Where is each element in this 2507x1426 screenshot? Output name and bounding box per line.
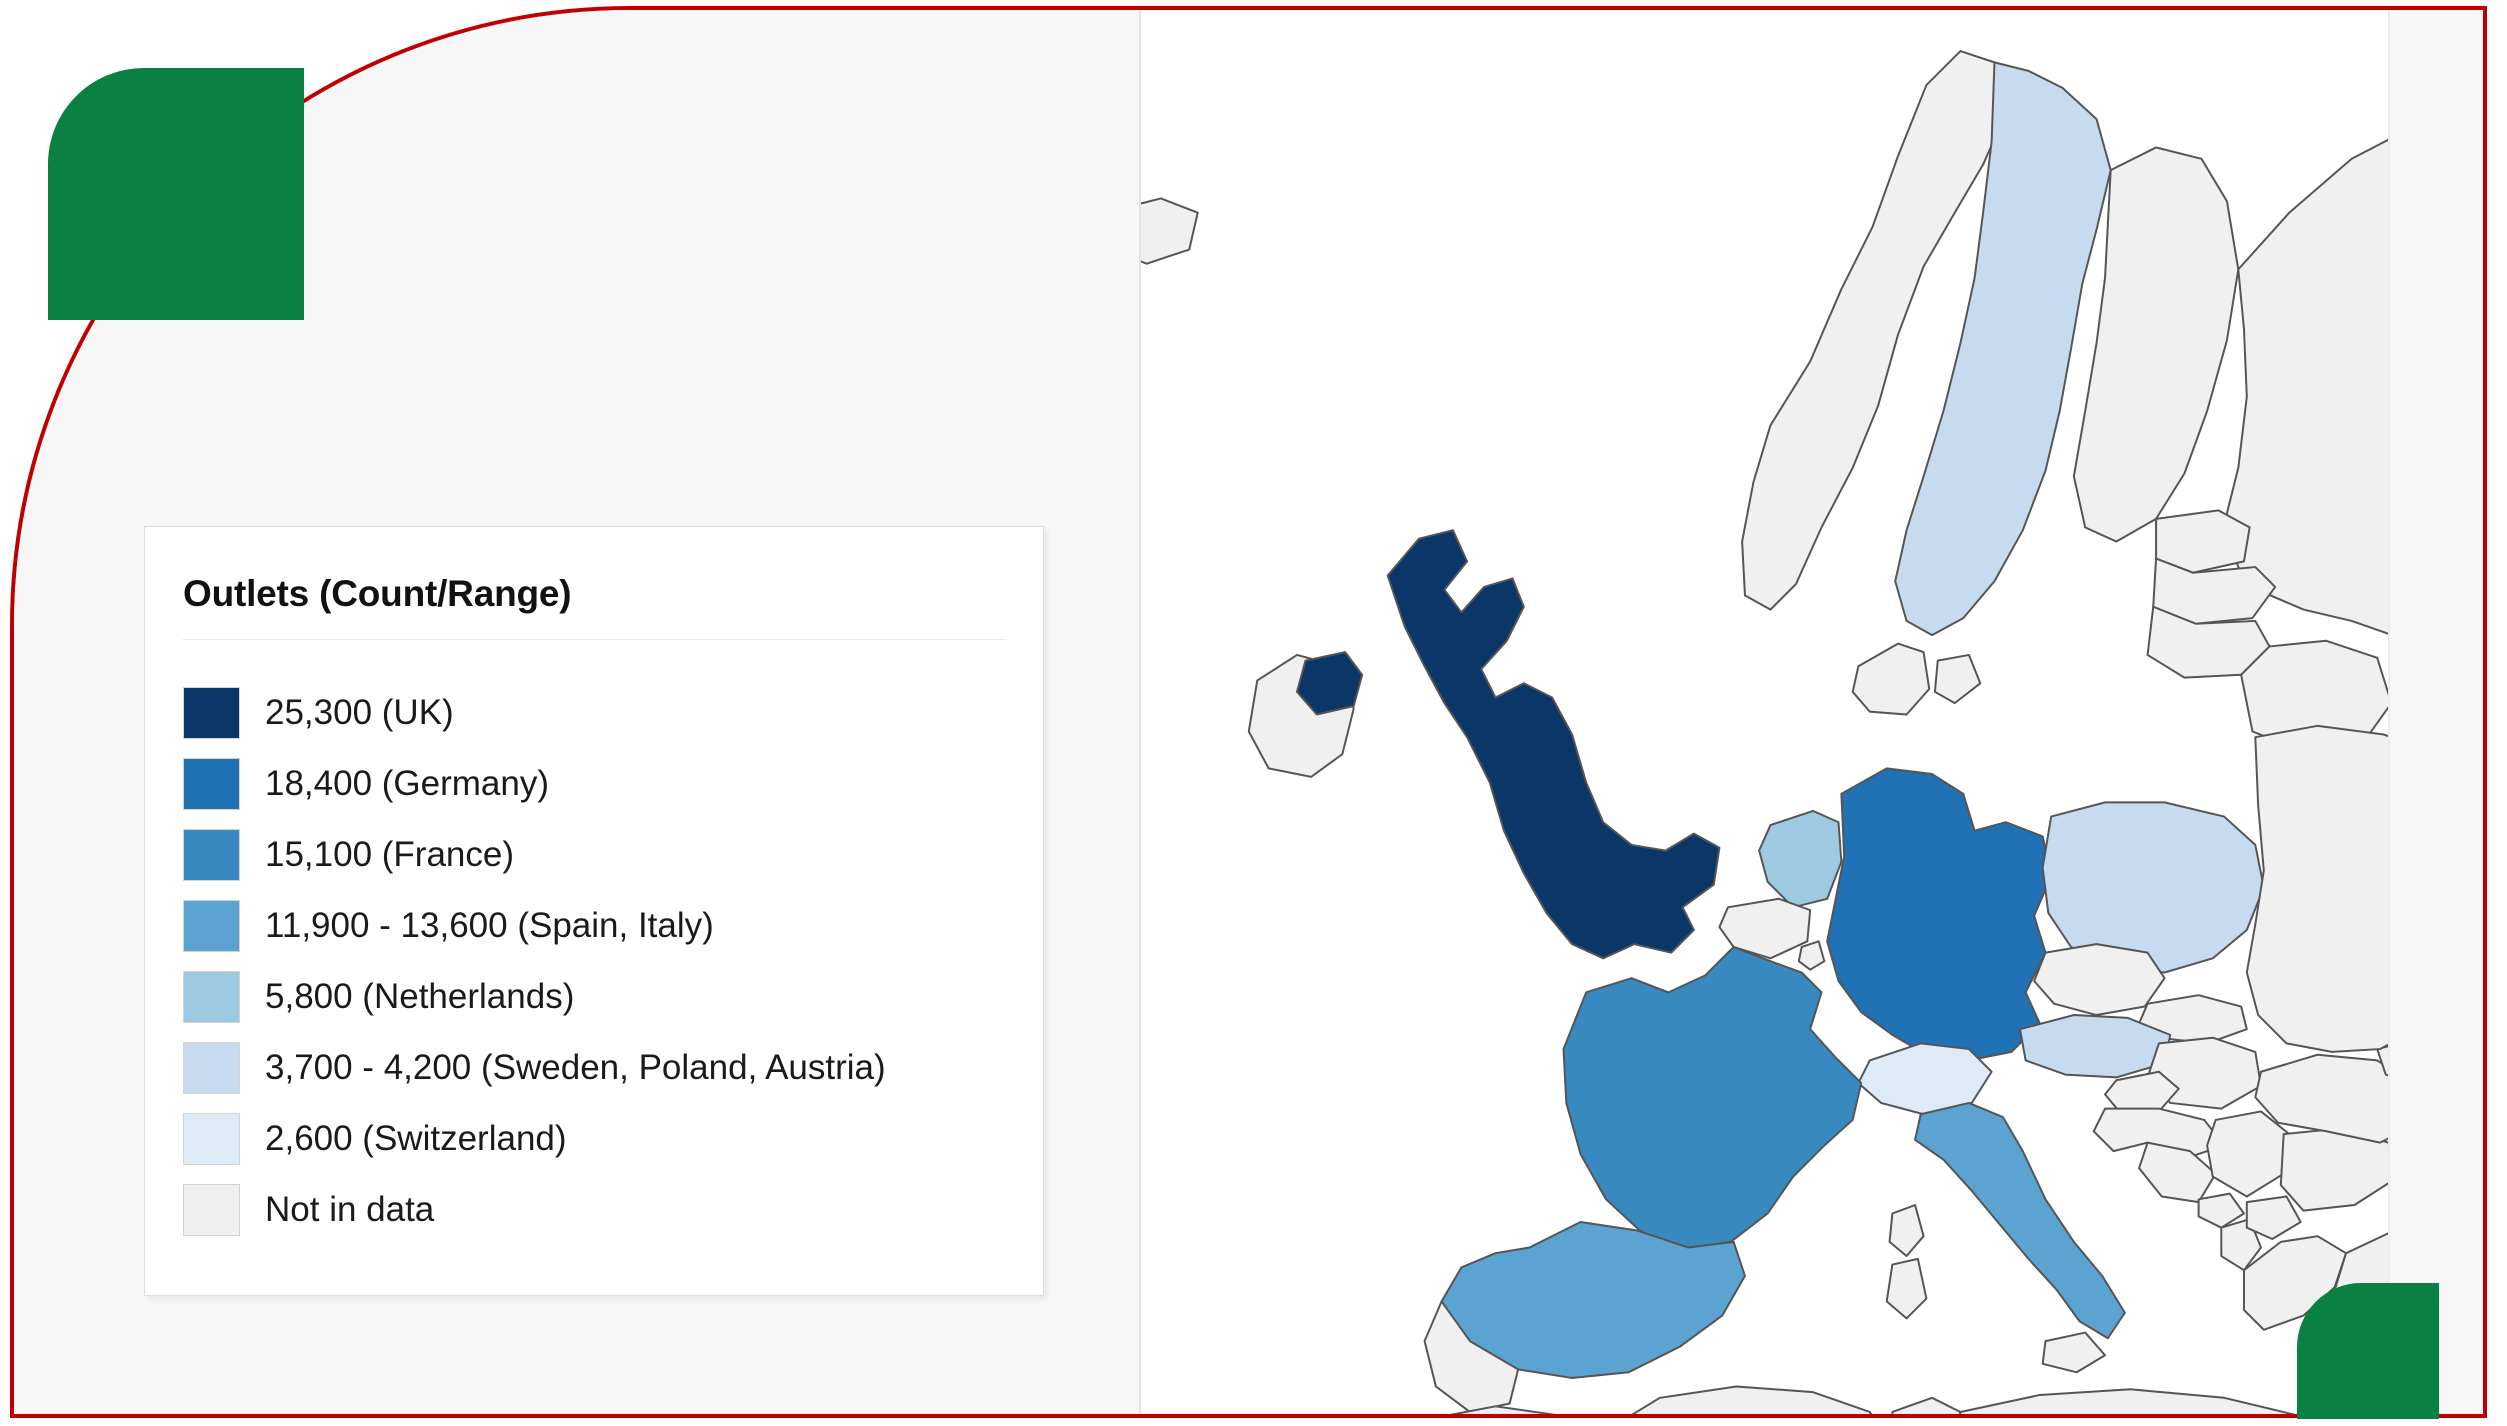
- legend-swatch-icon: [183, 1113, 240, 1165]
- country-denmark-island: [1935, 655, 1980, 703]
- country-netherlands: [1759, 811, 1841, 907]
- legend-item-label: 11,900 - 13,600 (Spain, Italy): [265, 906, 714, 946]
- country-sicily: [2043, 1333, 2105, 1373]
- legend-item[interactable]: 18,400 (Germany): [183, 748, 1023, 819]
- legend-item-label: 25,300 (UK): [265, 693, 454, 733]
- legend-title-divider: [183, 639, 1005, 640]
- legend-item[interactable]: 3,700 - 4,200 (Sweden, Poland, Austria): [183, 1032, 1023, 1103]
- country-czechia: [2034, 944, 2164, 1015]
- country-italy: [1915, 1103, 2125, 1338]
- map-outer-background: [2390, 10, 2483, 1414]
- country-iceland: [1139, 198, 1198, 263]
- legend-swatch-icon: [183, 687, 240, 739]
- decor-green-block-top-left: [48, 68, 304, 320]
- map-legend-card: Outlets (Count/Range) 25,300 (UK) 18,400…: [144, 526, 1044, 1296]
- legend-item-label: 2,600 (Switzerland): [265, 1119, 567, 1159]
- legend-item-label: Not in data: [265, 1190, 434, 1230]
- legend-item[interactable]: 15,100 (France): [183, 819, 1023, 890]
- country-morocco: [1405, 1406, 1603, 1414]
- legend-title: Outlets (Count/Range): [183, 573, 571, 615]
- legend-swatch-icon: [183, 758, 240, 810]
- choropleth-map-pane: [1139, 10, 2483, 1414]
- country-denmark: [1853, 644, 1930, 715]
- country-sardinia: [1887, 1259, 1927, 1319]
- country-serbia: [2207, 1111, 2289, 1196]
- slide-card: Outlets (Count/Range) 25,300 (UK) 18,400…: [10, 6, 2487, 1418]
- legend-item[interactable]: 25,300 (UK): [183, 677, 1023, 748]
- country-luxembourg: [1799, 941, 1825, 969]
- country-united-kingdom: [1388, 530, 1720, 958]
- europe-choropleth-map: [1139, 10, 2483, 1414]
- decor-green-block-bottom-right: [2297, 1283, 2439, 1419]
- legend-item-label: 18,400 (Germany): [265, 764, 549, 804]
- legend-item-list: 25,300 (UK) 18,400 (Germany) 15,100 (Fra…: [183, 677, 1023, 1245]
- legend-item[interactable]: 11,900 - 13,600 (Spain, Italy): [183, 890, 1023, 961]
- legend-item-label: 5,800 (Netherlands): [265, 977, 574, 1017]
- legend-swatch-icon: [183, 1042, 240, 1094]
- country-tunisia: [1892, 1398, 1960, 1414]
- legend-swatch-icon: [183, 971, 240, 1023]
- country-france: [1563, 947, 1861, 1250]
- country-germany: [1827, 768, 2051, 1060]
- legend-item-label: 15,100 (France): [265, 835, 514, 875]
- country-algeria: [1595, 1386, 1893, 1414]
- legend-swatch-icon: [183, 1184, 240, 1236]
- legend-item[interactable]: 2,600 (Switzerland): [183, 1103, 1023, 1174]
- legend-item[interactable]: Not in data: [183, 1174, 1023, 1245]
- country-libya: [1955, 1389, 2324, 1414]
- legend-swatch-icon: [183, 900, 240, 952]
- legend-item[interactable]: 5,800 (Netherlands): [183, 961, 1023, 1032]
- legend-swatch-icon: [183, 829, 240, 881]
- legend-item-label: 3,700 - 4,200 (Sweden, Poland, Austria): [265, 1048, 886, 1088]
- country-corsica: [1890, 1205, 1924, 1256]
